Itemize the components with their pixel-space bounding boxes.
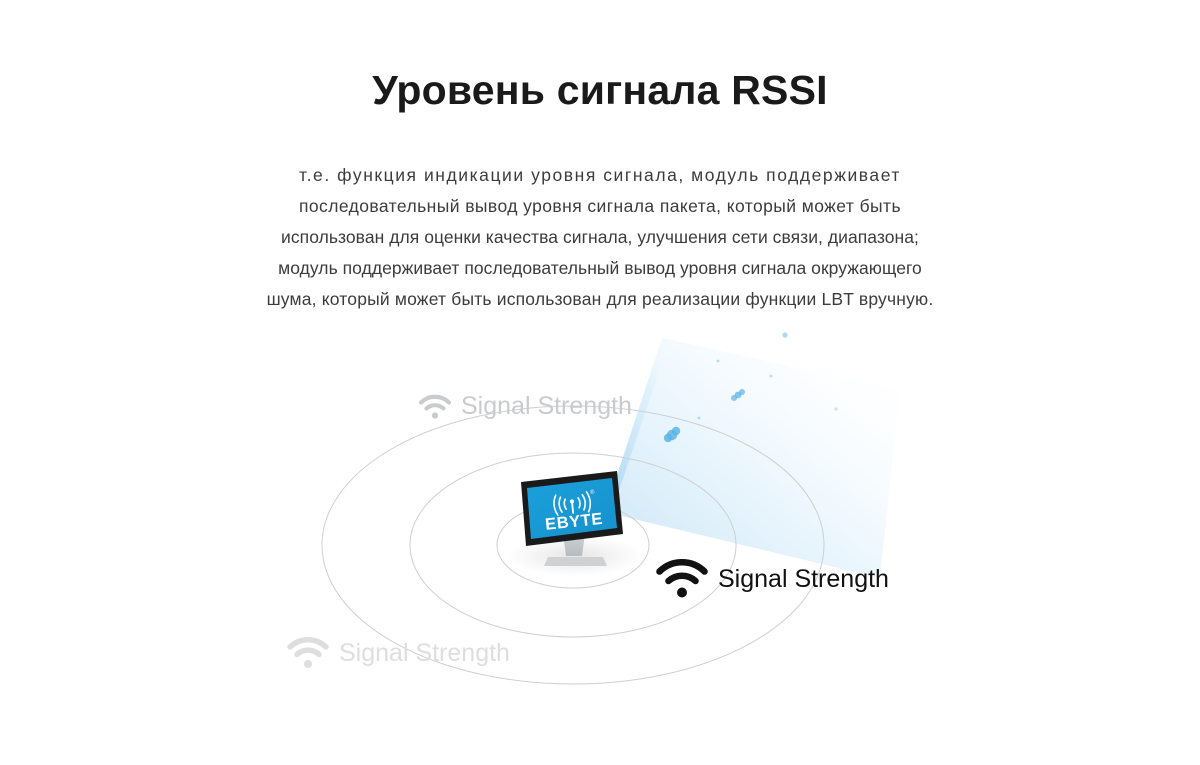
- signal-label-bottom: Signal Strength: [286, 636, 510, 670]
- signal-label-right: Signal Strength: [655, 558, 889, 600]
- signal-beam: [605, 332, 900, 578]
- monitor-stand-base: [544, 557, 607, 566]
- signal-illustration: ® EBYTE Signal Strength Signal Strength: [0, 330, 1200, 765]
- description-line-2: последовательный вывод уровня сигнала па…: [96, 191, 1104, 222]
- wifi-icon: [418, 394, 452, 420]
- description-paragraph: т.е. функция индикации уровня сигнала, м…: [96, 160, 1104, 315]
- description-line-1: т.е. функция индикации уровня сигнала, м…: [96, 160, 1104, 191]
- description-line-3: использован для оценки качества сигнала,…: [96, 222, 1104, 253]
- wifi-icon: [286, 636, 330, 670]
- description-line-5: шума, который может быть использован для…: [96, 284, 1104, 315]
- wifi-icon: [655, 558, 709, 600]
- signal-label-text: Signal Strength: [461, 392, 632, 421]
- signal-label-top: Signal Strength: [418, 392, 632, 421]
- signal-label-text: Signal Strength: [339, 639, 510, 668]
- signal-label-text: Signal Strength: [718, 565, 889, 594]
- page-title: Уровень сигнала RSSI: [0, 68, 1200, 113]
- description-line-4: модуль поддерживает последовательный выв…: [96, 253, 1104, 284]
